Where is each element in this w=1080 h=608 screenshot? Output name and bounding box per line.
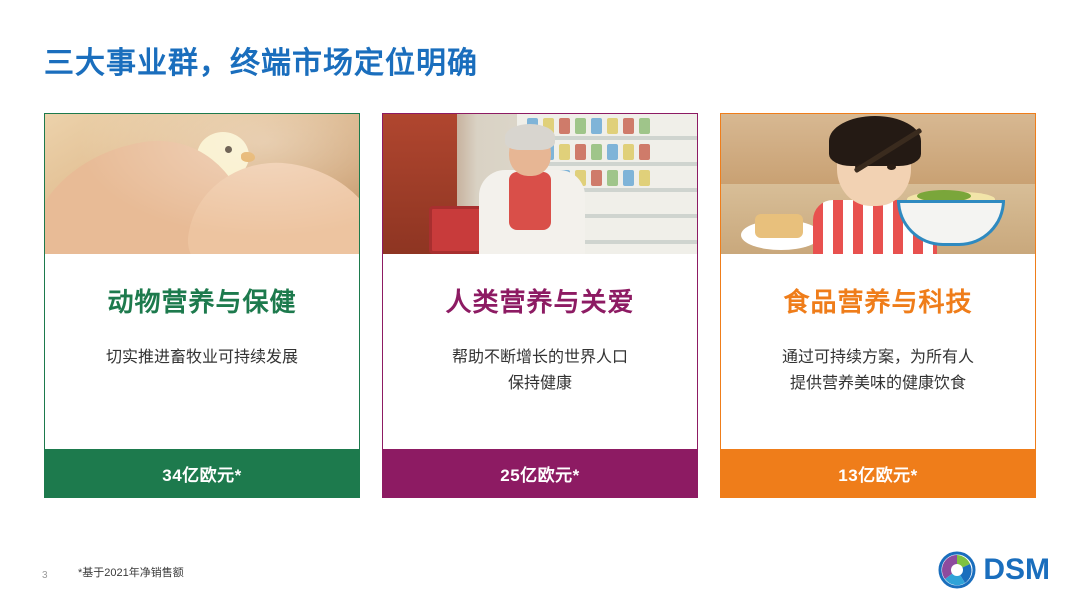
product-item (639, 144, 650, 160)
child-eating-noodles-photo (721, 114, 1035, 254)
card-description-line: 通过可持续方案，为所有人 (737, 345, 1019, 371)
card-description: 帮助不断增长的世界人口 保持健康 (399, 345, 681, 398)
chick-in-hands-photo (45, 114, 359, 254)
supermarket-shopper-photo (383, 114, 697, 254)
product-item (559, 118, 570, 134)
slide-root: 三大事业群，终端市场定位明确 动物营养与保健 切实推进畜牧业可持续发展 34亿欧… (0, 0, 1080, 608)
product-item (575, 144, 586, 160)
product-item (591, 144, 602, 160)
card-description-line: 帮助不断增长的世界人口 (399, 345, 681, 371)
card-description: 切实推进畜牧业可持续发展 (61, 345, 343, 371)
product-item (623, 170, 634, 186)
card-heading: 动物营养与保健 (61, 282, 343, 319)
card-animal-nutrition[interactable]: 动物营养与保健 切实推进畜牧业可持续发展 34亿欧元* (44, 113, 360, 498)
product-item (607, 144, 618, 160)
photo-highlight-overlay (45, 114, 359, 254)
product-item (639, 118, 650, 134)
card-heading: 人类营养与关爱 (399, 282, 681, 319)
card-body: 人类营养与关爱 帮助不断增长的世界人口 保持健康 (383, 254, 697, 449)
child-eye-right-shape (887, 164, 896, 170)
shopper-hair-shape (505, 124, 555, 150)
card-body: 食品营养与科技 通过可持续方案，为所有人 提供营养美味的健康饮食 (721, 254, 1035, 449)
product-item (575, 118, 586, 134)
product-item (591, 170, 602, 186)
dsm-swirl-icon (937, 550, 977, 590)
card-revenue-badge: 25亿欧元* (383, 449, 697, 497)
card-revenue-badge: 13亿欧元* (721, 449, 1035, 497)
logo-text: DSM (983, 553, 1050, 587)
card-description-line: 提供营养美味的健康饮食 (737, 371, 1019, 397)
card-human-nutrition[interactable]: 人类营养与关爱 帮助不断增长的世界人口 保持健康 25亿欧元* (382, 113, 698, 498)
product-item (623, 144, 634, 160)
card-food-nutrition[interactable]: 食品营养与科技 通过可持续方案，为所有人 提供营养美味的健康饮食 13亿欧元* (720, 113, 1036, 498)
card-description-line: 保持健康 (399, 371, 681, 397)
shopper-scarf-shape (509, 172, 551, 230)
dsm-logo: DSM (937, 550, 1050, 590)
product-item (607, 118, 618, 134)
page-title: 三大事业群，终端市场定位明确 (44, 38, 478, 82)
product-item (607, 170, 618, 186)
bread-shape (755, 214, 803, 238)
product-item (591, 118, 602, 134)
card-description: 通过可持续方案，为所有人 提供营养美味的健康饮食 (737, 345, 1019, 398)
footnote: *基于2021年净销售额 (78, 564, 184, 580)
product-item (559, 144, 570, 160)
card-body: 动物营养与保健 切实推进畜牧业可持续发展 (45, 254, 359, 449)
card-group: 动物营养与保健 切实推进畜牧业可持续发展 34亿欧元* (44, 113, 1036, 498)
page-number: 3 (42, 570, 48, 581)
product-item (623, 118, 634, 134)
product-item (639, 170, 650, 186)
card-revenue-badge: 34亿欧元* (45, 449, 359, 497)
card-heading: 食品营养与科技 (737, 282, 1019, 319)
